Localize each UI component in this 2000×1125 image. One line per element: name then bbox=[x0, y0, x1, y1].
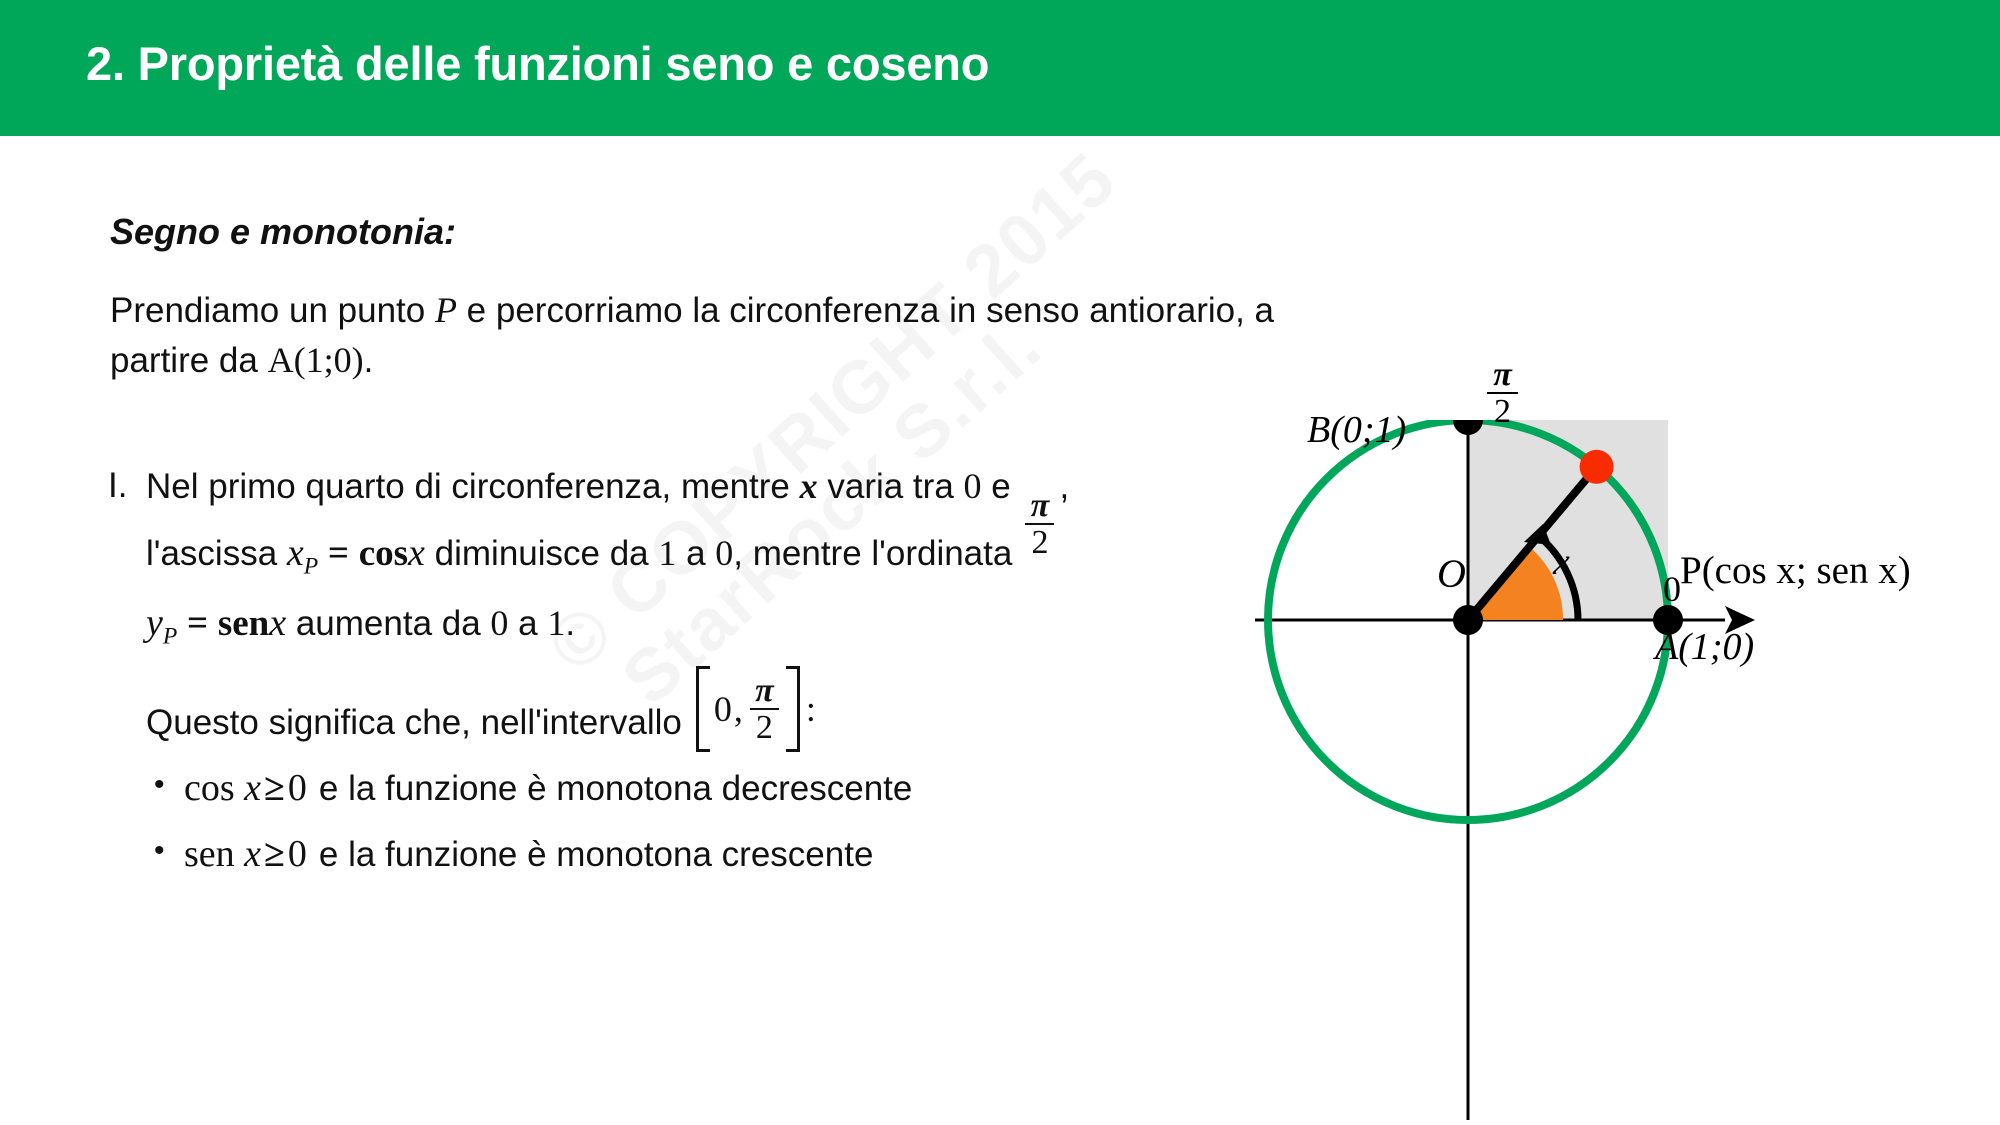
x-sub-p-base: x bbox=[287, 532, 304, 574]
formula-interval-sentence: Questo significa che, nell'intervallo0,π… bbox=[146, 666, 816, 752]
interval-sentence-text: Questo significa che, nell'intervallo bbox=[146, 703, 682, 742]
bullet-1-relation: ≥ bbox=[261, 767, 288, 809]
intro-part-1: Prendiamo un punto bbox=[110, 291, 435, 330]
item-line1-comma: , bbox=[1059, 467, 1069, 506]
y-sub-p: yP bbox=[146, 602, 177, 644]
interval-colon: : bbox=[800, 688, 816, 730]
bullet-2-function: sen bbox=[184, 833, 235, 875]
point-O-marker bbox=[1453, 605, 1483, 635]
pi-over-two-fraction: π2 bbox=[1025, 489, 1054, 560]
item-line1-a: Nel primo quarto di circonferenza, mentr… bbox=[146, 467, 800, 506]
interval-notation: 0,π2: bbox=[696, 666, 816, 752]
point-P-marker bbox=[1580, 450, 1614, 484]
slide-root: 2. Proprietà delle funzioni seno e cosen… bbox=[0, 0, 2000, 1125]
item-line1-b: varia tra bbox=[818, 467, 964, 506]
interval-fraction-numerator: π bbox=[751, 674, 778, 708]
intro-var-p: P bbox=[435, 290, 457, 330]
ascissa-text-d: , mentre l'ordinata bbox=[733, 534, 1012, 573]
fraction-numerator: π bbox=[1027, 489, 1054, 523]
intro-part-3: . bbox=[364, 341, 374, 380]
equals-sign-2: = bbox=[187, 603, 208, 644]
intro-paragraph: Prendiamo un punto P e percorriamo la ci… bbox=[110, 286, 1325, 385]
interval-left-bracket bbox=[696, 666, 710, 752]
item-line1-zero: 0 bbox=[964, 466, 982, 506]
formula-ordinata: yP = senx aumenta da 0 a 1. bbox=[146, 601, 575, 651]
y-sub-p-sub: P bbox=[163, 624, 177, 650]
bullet-2-relation: ≥ bbox=[261, 833, 288, 875]
bullet-1-condition: cos x≥0 bbox=[184, 767, 307, 809]
y-axis-pi-numerator: π bbox=[1489, 358, 1516, 392]
ascissa-one: 1 bbox=[658, 533, 676, 573]
label-angle-x: x bbox=[1553, 540, 1570, 584]
fraction-denominator: 2 bbox=[1025, 523, 1054, 560]
bullet-2-variable: x bbox=[244, 833, 261, 875]
lead-heading: Segno e monotonia: bbox=[110, 211, 456, 253]
intro-point-a: A(1;0) bbox=[268, 340, 364, 380]
bullet-2-text: e la funzione è monotona crescente bbox=[319, 835, 874, 874]
label-point-A: A(1;0) bbox=[1655, 625, 1754, 669]
formula-ascissa: l'ascissa xP = cosx diminuisce da 1 a 0,… bbox=[146, 531, 1012, 581]
interval-right-bracket bbox=[786, 666, 800, 752]
ordinata-text-c: a bbox=[508, 604, 547, 643]
bullet-dot-icon: • bbox=[154, 832, 165, 870]
sen-argument-x: x bbox=[269, 602, 286, 644]
bullet-list: •cos x≥0e la funzione è monotona decresc… bbox=[150, 766, 1250, 898]
list-item: •sen x≥0e la funzione è monotona crescen… bbox=[150, 832, 1250, 876]
bullet-1-function: cos bbox=[184, 767, 235, 809]
bullet-2-value: 0 bbox=[288, 833, 307, 875]
interval-fraction-denominator: 2 bbox=[750, 708, 779, 745]
label-zero-on-axis: 0 bbox=[1663, 568, 1681, 610]
header-bar: 2. Proprietà delle funzioni seno e cosen… bbox=[0, 0, 2000, 136]
sen-operator: sen bbox=[218, 603, 269, 644]
unit-circle-svg bbox=[1255, 420, 2000, 1125]
y-axis-pi-denominator: 2 bbox=[1487, 392, 1518, 429]
interval-pi-over-two: π2 bbox=[750, 674, 779, 745]
cos-argument-x: x bbox=[408, 532, 425, 574]
equals-sign-1: = bbox=[328, 533, 349, 574]
ordinata-zero: 0 bbox=[490, 603, 508, 643]
x-sub-p: xP bbox=[287, 532, 318, 574]
y-sub-p-base: y bbox=[146, 602, 163, 644]
interval-left-endpoint: 0 bbox=[712, 688, 734, 730]
ascissa-text-b: diminuisce da bbox=[425, 534, 658, 573]
bullet-1-value: 0 bbox=[288, 767, 307, 809]
label-origin-O: O bbox=[1437, 550, 1466, 597]
x-sub-p-sub: P bbox=[304, 554, 318, 580]
item-line1-var-x: x bbox=[800, 466, 818, 506]
list-item: •cos x≥0e la funzione è monotona decresc… bbox=[150, 766, 1250, 810]
y-axis-pi-over-two-label: π 2 bbox=[1487, 358, 1518, 429]
ascissa-label: l'ascissa bbox=[146, 534, 287, 573]
ascissa-zero: 0 bbox=[715, 533, 733, 573]
ordinata-text-d: . bbox=[565, 604, 575, 643]
unit-circle-diagram: B(0;1) π 2 P(cos x; sen x) O x 0 A(1;0) bbox=[1255, 420, 2000, 1125]
interval-comma: , bbox=[734, 688, 745, 730]
bullet-dot-icon: • bbox=[154, 766, 165, 804]
item-marker: I. bbox=[108, 461, 127, 511]
body-text-column: Segno e monotonia: Prendiamo un punto P … bbox=[0, 136, 1330, 1125]
cos-operator: cos bbox=[359, 533, 408, 574]
ordinata-text-b: aumenta da bbox=[286, 604, 490, 643]
ordinata-one: 1 bbox=[547, 603, 565, 643]
label-point-P: P(cos x; sen x) bbox=[1680, 548, 1911, 593]
page-title: 2. Proprietà delle funzioni seno e cosen… bbox=[86, 36, 989, 91]
bullet-2-condition: sen x≥0 bbox=[184, 833, 307, 875]
ascissa-text-c: a bbox=[676, 534, 715, 573]
bullet-1-text: e la funzione è monotona decrescente bbox=[319, 769, 912, 808]
bullet-1-variable: x bbox=[244, 767, 261, 809]
item-line1-c: e bbox=[982, 467, 1021, 506]
